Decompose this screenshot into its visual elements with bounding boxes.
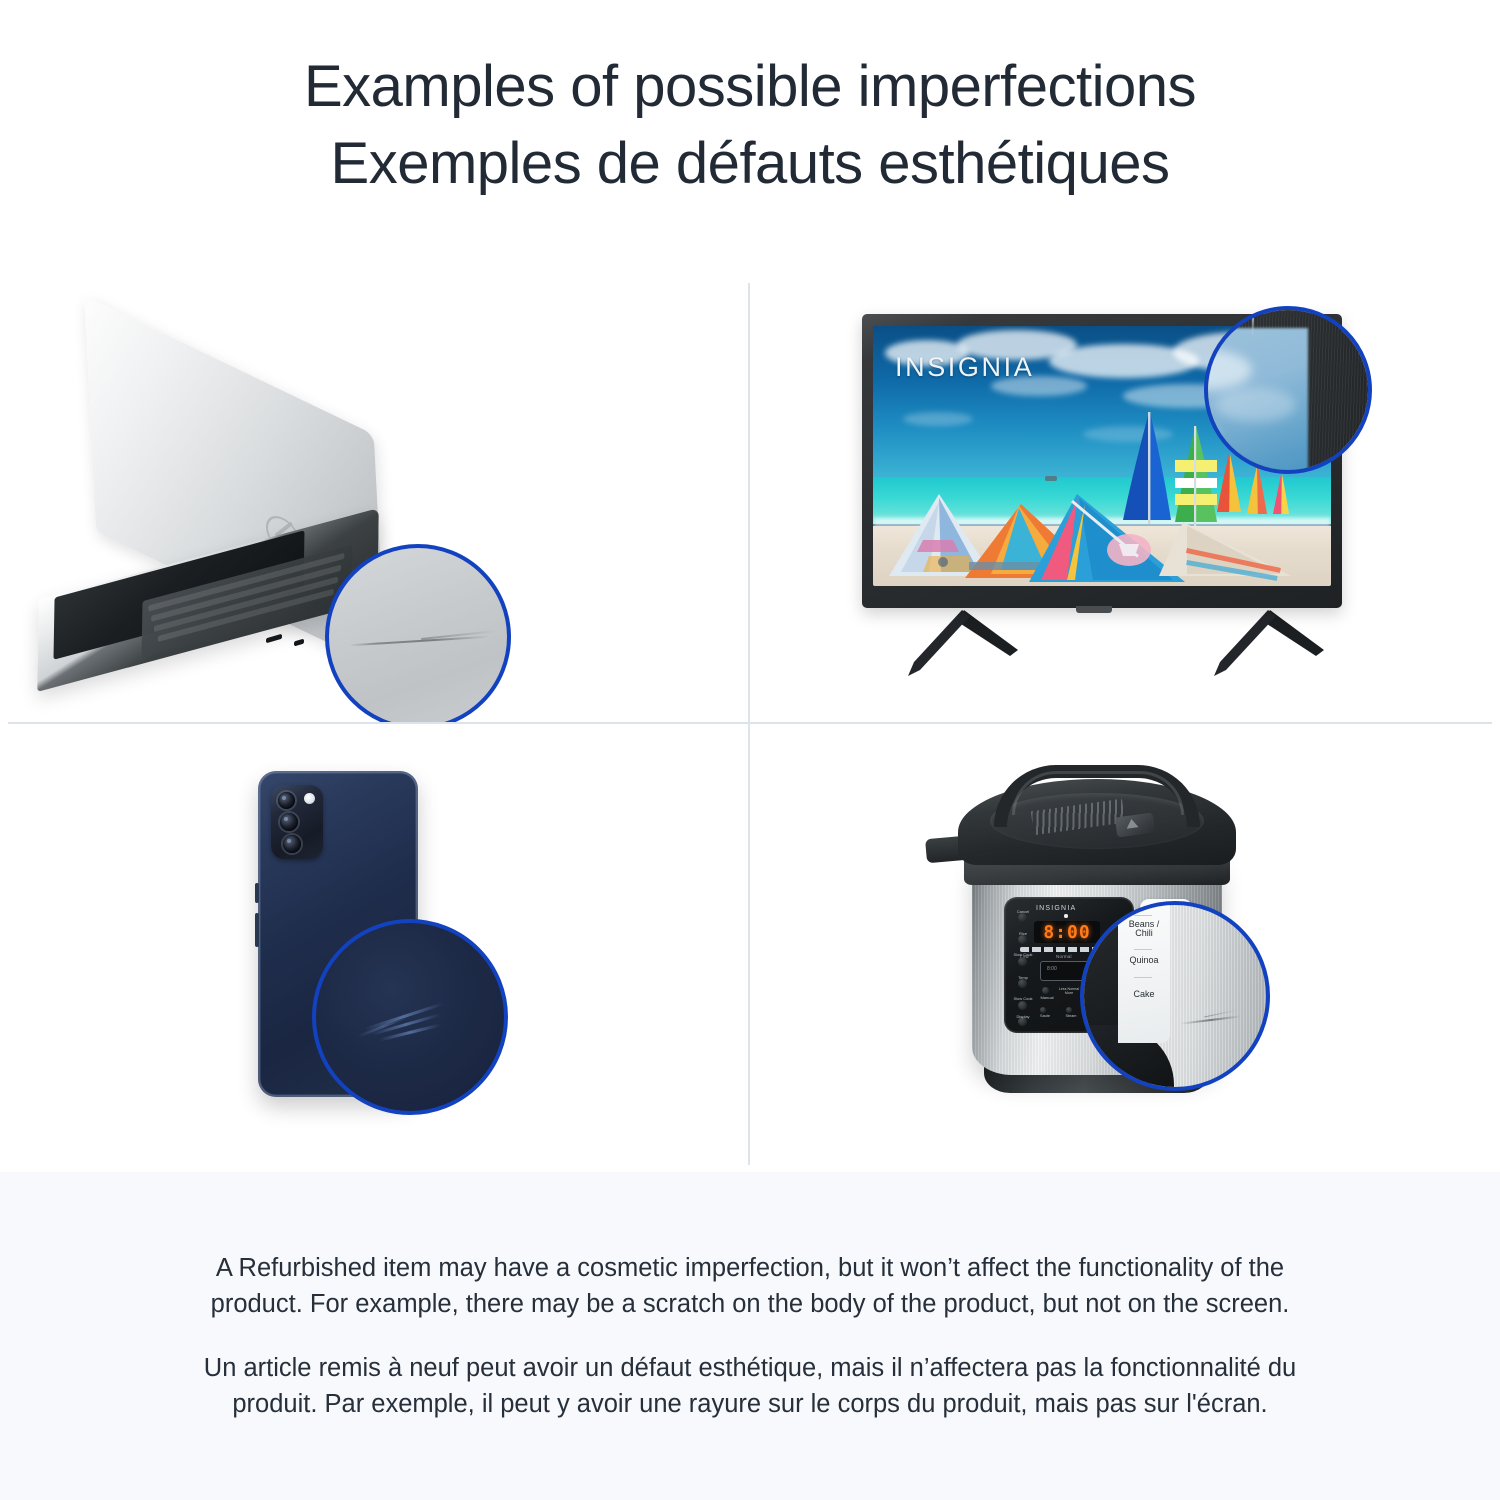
- tv-corner-zoom-content: [1204, 306, 1372, 474]
- cooker-label-saute: Saute: [1033, 1014, 1057, 1018]
- phone-camera-lens-1: [278, 792, 295, 809]
- cooker-label-display: Display: [1011, 1014, 1035, 1019]
- cooker-zoom-key-quinoa: Quinoa: [1120, 955, 1168, 965]
- refurbished-imperfections-infographic: Examples of possible imperfections Exemp…: [0, 0, 1500, 1500]
- cooker-meter-label-normal: Normal: [1056, 954, 1072, 959]
- cooker-secondary-display-text: 8:00: [1047, 966, 1057, 973]
- phone-illustration: [232, 763, 522, 1133]
- laptop-magnifier-circle: [325, 544, 511, 722]
- cooker-button-manual[interactable]: [1042, 987, 1049, 994]
- laptop-scratch-mark: [349, 636, 489, 647]
- cooker-zoom-key-strip: Veggies Beans / Chili Quinoa Cake: [1118, 901, 1170, 1043]
- phone-camera-lens-3: [283, 835, 301, 853]
- page-title-french: Exemples de défauts esthétiques: [331, 125, 1170, 202]
- cooker-zoom-key-cake: Cake: [1120, 989, 1168, 999]
- cooker-label-steam: Steam: [1059, 1014, 1083, 1018]
- cooker-brand-label: INSIGNIA: [1036, 905, 1076, 912]
- tv-illustration: INSIGNIA: [862, 314, 1362, 674]
- tv-screen-kite-right: [1157, 518, 1297, 586]
- cooker-magnifier-circle: Veggies Beans / Chili Quinoa Cake: [1080, 901, 1270, 1091]
- cooker-label-slow-cook: Slow Cook: [1011, 953, 1035, 957]
- cooker-zoom-key-beans-chili: Beans / Chili: [1120, 920, 1168, 939]
- cooker-button-steam[interactable]: [1066, 1007, 1072, 1013]
- phone-volume-button[interactable]: [255, 883, 259, 903]
- cooker-button-rice[interactable]: [1018, 935, 1027, 944]
- laptop-audio-port-icon: [294, 639, 304, 647]
- cooker-illustration: INSIGNIA 8:00 Low Normal More 8:00 Cance…: [920, 741, 1320, 1141]
- footer-disclaimer: A Refurbished item may have a cosmetic i…: [0, 1172, 1500, 1500]
- tv-bottom-logo-plate: [1076, 606, 1112, 613]
- cooker-label-less-normal-more: Less Normal More: [1056, 987, 1082, 996]
- cooker-label-temp: Temp: [1011, 975, 1035, 980]
- tv-panel: INSIGNIA: [750, 278, 1498, 722]
- tv-zoom-screen: [1204, 328, 1308, 474]
- phone-camera-module: [271, 785, 323, 859]
- phone-camera-lens-2: [280, 813, 298, 831]
- cooker-button-cancel[interactable]: [1018, 913, 1027, 922]
- laptop-illustration: [30, 368, 450, 658]
- tv-magnifier-circle: [1204, 306, 1372, 474]
- cooker-label-slow-cook-2: Slow Cook: [1011, 997, 1035, 1001]
- tv-brand-label: INSIGNIA: [895, 352, 1034, 383]
- laptop-panel: [0, 278, 748, 722]
- phone-camera-flash-icon: [304, 793, 315, 804]
- examples-grid: INSIGNIA: [0, 278, 1500, 1170]
- phone-power-button[interactable]: [255, 913, 259, 947]
- cooker-status-led-icon: [1064, 914, 1068, 918]
- phone-panel: [0, 725, 748, 1169]
- grid-horizontal-divider: [8, 722, 1492, 724]
- cooker-button-saute[interactable]: [1040, 1007, 1046, 1013]
- disclaimer-english: A Refurbished item may have a cosmetic i…: [180, 1250, 1320, 1322]
- cooker-label-cancel: Cancel: [1011, 909, 1035, 914]
- page-title-english: Examples of possible imperfections: [304, 48, 1196, 125]
- header: Examples of possible imperfections Exemp…: [0, 0, 1500, 250]
- cooker-panel: INSIGNIA 8:00 Low Normal More 8:00 Cance…: [750, 725, 1498, 1169]
- disclaimer-french: Un article remis à neuf peut avoir un dé…: [180, 1350, 1320, 1422]
- cooker-button-temp[interactable]: [1018, 979, 1027, 988]
- cooker-label-rice: Rice: [1011, 931, 1035, 936]
- phone-magnifier-circle: [312, 919, 508, 1115]
- cooker-button-slow-cook[interactable]: [1018, 957, 1027, 966]
- cooker-button-slow-cook-2[interactable]: [1018, 1001, 1027, 1010]
- laptop-usb-port-icon: [266, 634, 282, 644]
